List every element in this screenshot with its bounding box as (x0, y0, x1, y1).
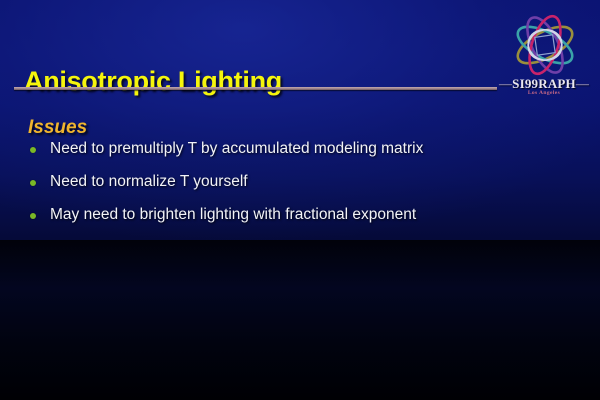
logo-wordmark-text: SI99RAPH (512, 76, 576, 91)
bullet-text: Need to normalize T yourself (50, 172, 248, 192)
logo-dash-left: — (499, 76, 512, 91)
list-item: Need to premultiply T by accumulated mod… (30, 139, 570, 172)
title-divider-rule (14, 87, 497, 90)
bullet-text: Need to premultiply T by accumulated mod… (50, 139, 423, 159)
bullet-list: Need to premultiply T by accumulated mod… (30, 139, 570, 238)
slide-title: Anisotropic Lighting (24, 66, 282, 97)
logo-subtitle: Los Angeles (494, 90, 594, 96)
presentation-slide: Anisotropic Lighting Issues Need to prem… (0, 0, 600, 400)
list-item: Need to normalize T yourself (30, 172, 570, 205)
list-item: May need to brighten lighting with fract… (30, 205, 570, 238)
bullet-dot-icon (30, 180, 36, 186)
bullet-text: May need to brighten lighting with fract… (50, 205, 416, 225)
bullet-dot-icon (30, 147, 36, 153)
bullet-dot-icon (30, 213, 36, 219)
siggraph-logo: —SI99RAPH— Los Angeles (494, 12, 594, 104)
siggraph-rings-icon (502, 12, 588, 78)
logo-dash-right: — (576, 76, 589, 91)
slide-subtitle: Issues (28, 117, 87, 139)
